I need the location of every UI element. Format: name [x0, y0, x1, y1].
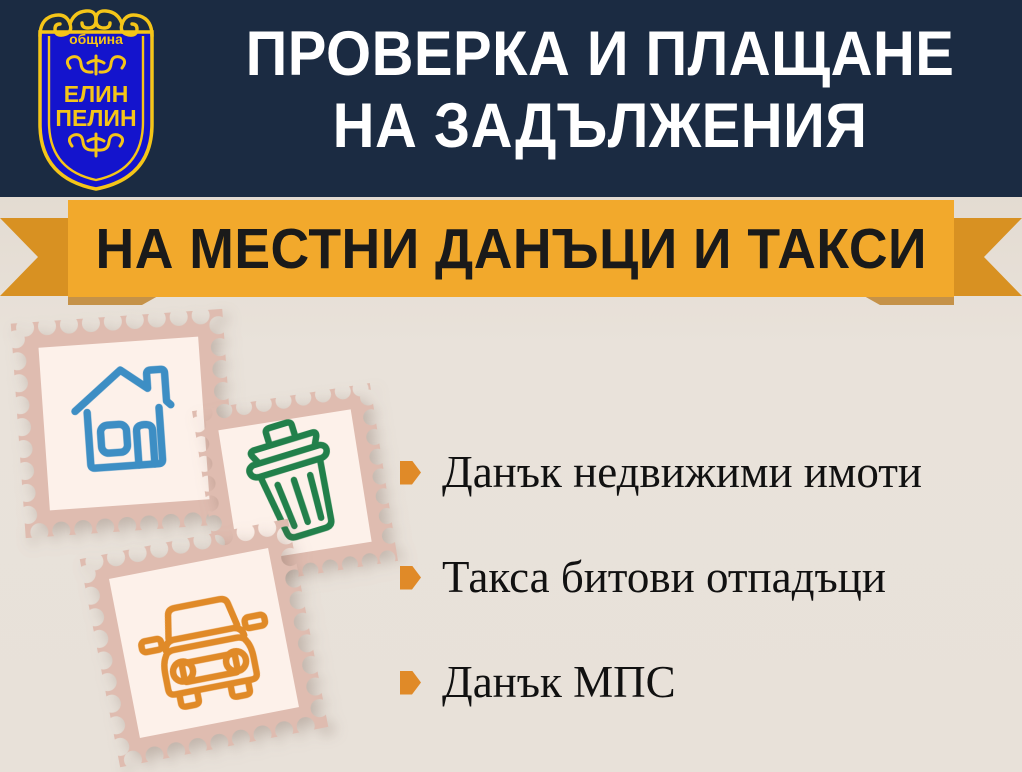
coat-of-arms-icon: община ЕЛИН ПЕЛИН: [22, 6, 170, 192]
tax-type-list: Данък недвижими имоти Такса битови отпад…: [400, 420, 1020, 735]
municipality-logo: община ЕЛИН ПЕЛИН: [22, 6, 170, 192]
bullet-arrow-icon: [400, 566, 421, 590]
stamp-card-vehicle: [80, 519, 329, 768]
title-line-1: ПРОВЕРКА И ПЛАЩАНЕ: [223, 18, 977, 90]
list-item[interactable]: Данък МПС: [400, 630, 1020, 735]
list-item-label: Данък недвижими имоти: [442, 450, 922, 495]
header-bar: община ЕЛИН ПЕЛИН ПРОВЕРКА И ПЛАЩАНЕ НА …: [0, 0, 1022, 197]
logo-text-pelin: ПЕЛИН: [55, 105, 136, 131]
page-title: ПРОВЕРКА И ПЛАЩАНЕ НА ЗАДЪЛЖЕНИЯ: [190, 18, 1010, 162]
list-item[interactable]: Данък недвижими имоти: [400, 420, 1020, 525]
list-item-label: Такса битови отпадъци: [442, 555, 886, 600]
poster-canvas: община ЕЛИН ПЕЛИН ПРОВЕРКА И ПЛАЩАНЕ НА …: [0, 0, 1022, 772]
list-item[interactable]: Такса битови отпадъци: [400, 525, 1020, 630]
car-stamp-graphic: [80, 519, 329, 768]
ribbon-fold-left: [68, 296, 158, 305]
bullet-arrow-icon: [400, 671, 421, 695]
list-item-label: Данък МПС: [442, 660, 676, 705]
logo-text-obshtina: община: [69, 31, 123, 47]
ribbon-label: НА МЕСТНИ ДАНЪЦИ И ТАКСИ: [95, 216, 926, 282]
logo-text-elin: ЕЛИН: [64, 81, 129, 107]
ribbon-fold-right: [864, 296, 954, 305]
bullet-arrow-icon: [400, 461, 421, 485]
title-line-2: НА ЗАДЪЛЖЕНИЯ: [223, 90, 977, 162]
ribbon-body: НА МЕСТНИ ДАНЪЦИ И ТАКСИ: [68, 200, 954, 297]
subtitle-ribbon: НА МЕСТНИ ДАНЪЦИ И ТАКСИ: [0, 196, 1022, 302]
